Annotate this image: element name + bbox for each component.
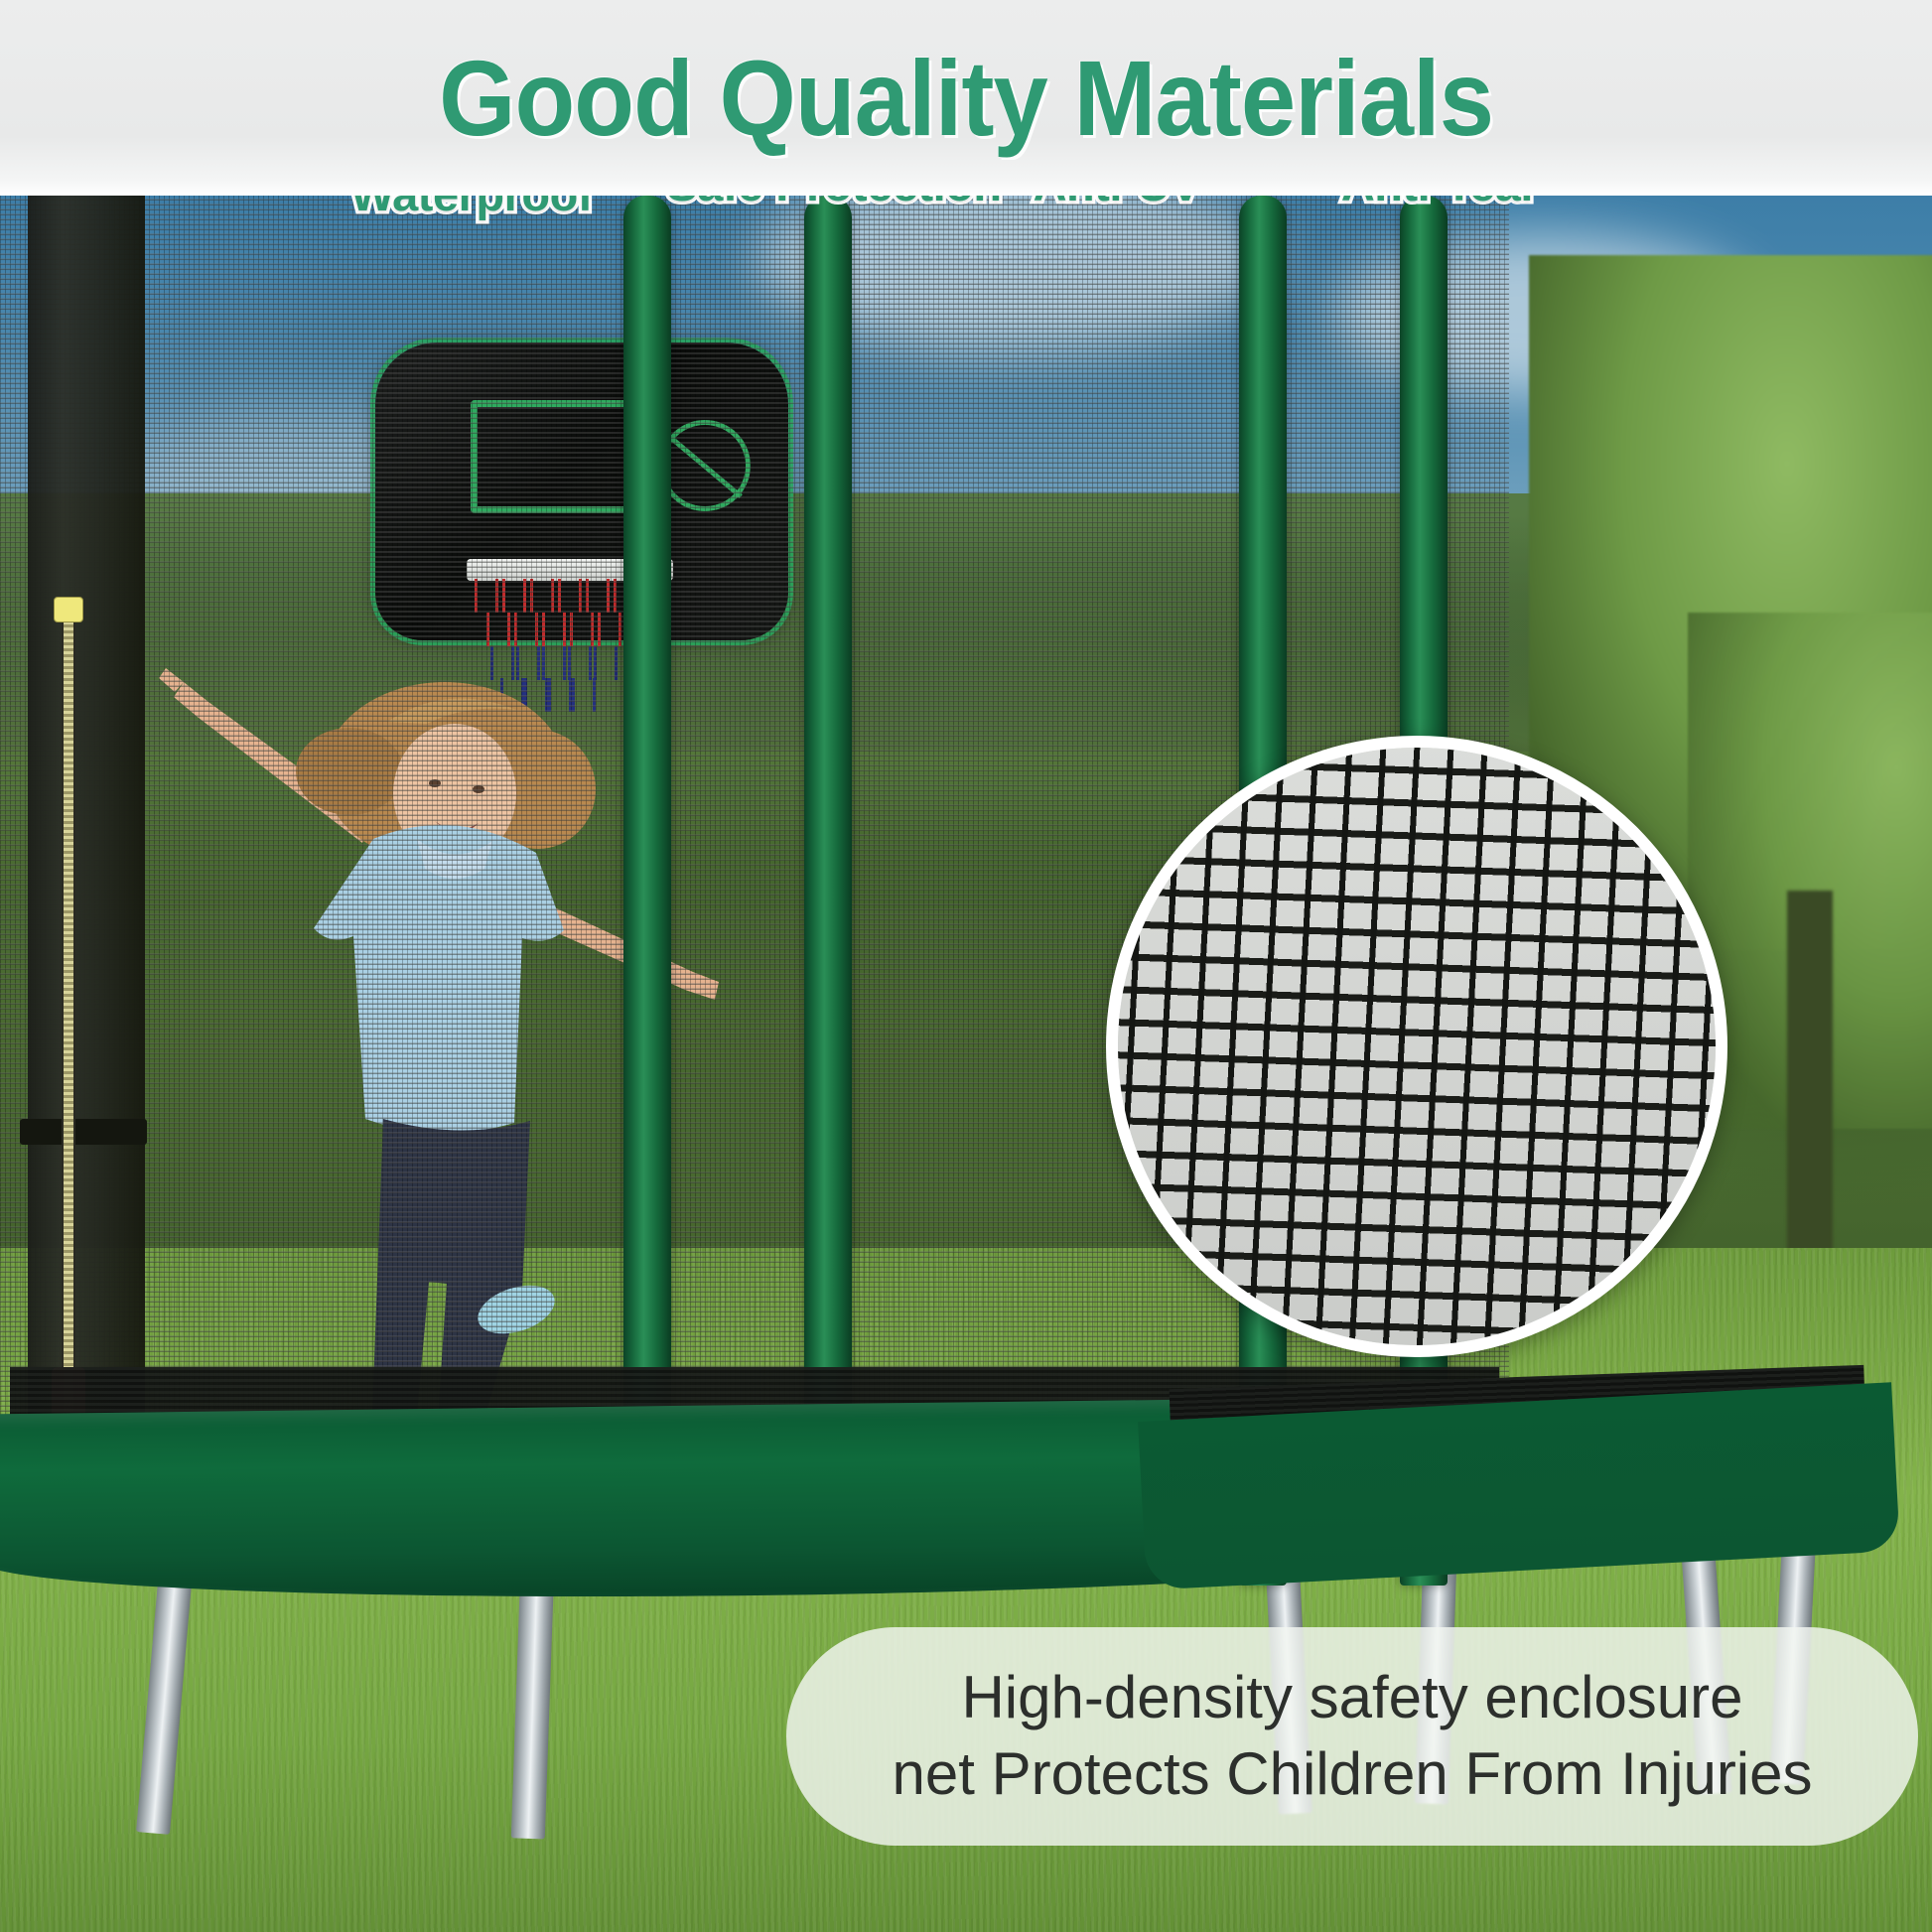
flap-strap	[20, 1119, 147, 1145]
product-feature-image: Good Quality Materials Waterproof	[0, 0, 1932, 1932]
caption-line-1: High-density safety enclosure	[961, 1660, 1742, 1736]
zipper-pull	[54, 597, 83, 622]
enclosure-entry-flap	[28, 196, 145, 1506]
caption-line-2: net Protects Children From Injuries	[892, 1736, 1812, 1813]
caption-box: High-density safety enclosure net Protec…	[786, 1627, 1918, 1846]
enclosure-post	[804, 196, 852, 1506]
enclosure-entry-zipper	[62, 613, 75, 1476]
page-title: Good Quality Materials	[439, 45, 1493, 152]
enclosure-post	[623, 196, 671, 1506]
net-closeup-magnifier	[1106, 736, 1727, 1357]
net-mesh-closeup	[1106, 736, 1727, 1357]
tree-trunk	[1787, 891, 1833, 1308]
header-banner: Good Quality Materials	[0, 0, 1932, 196]
